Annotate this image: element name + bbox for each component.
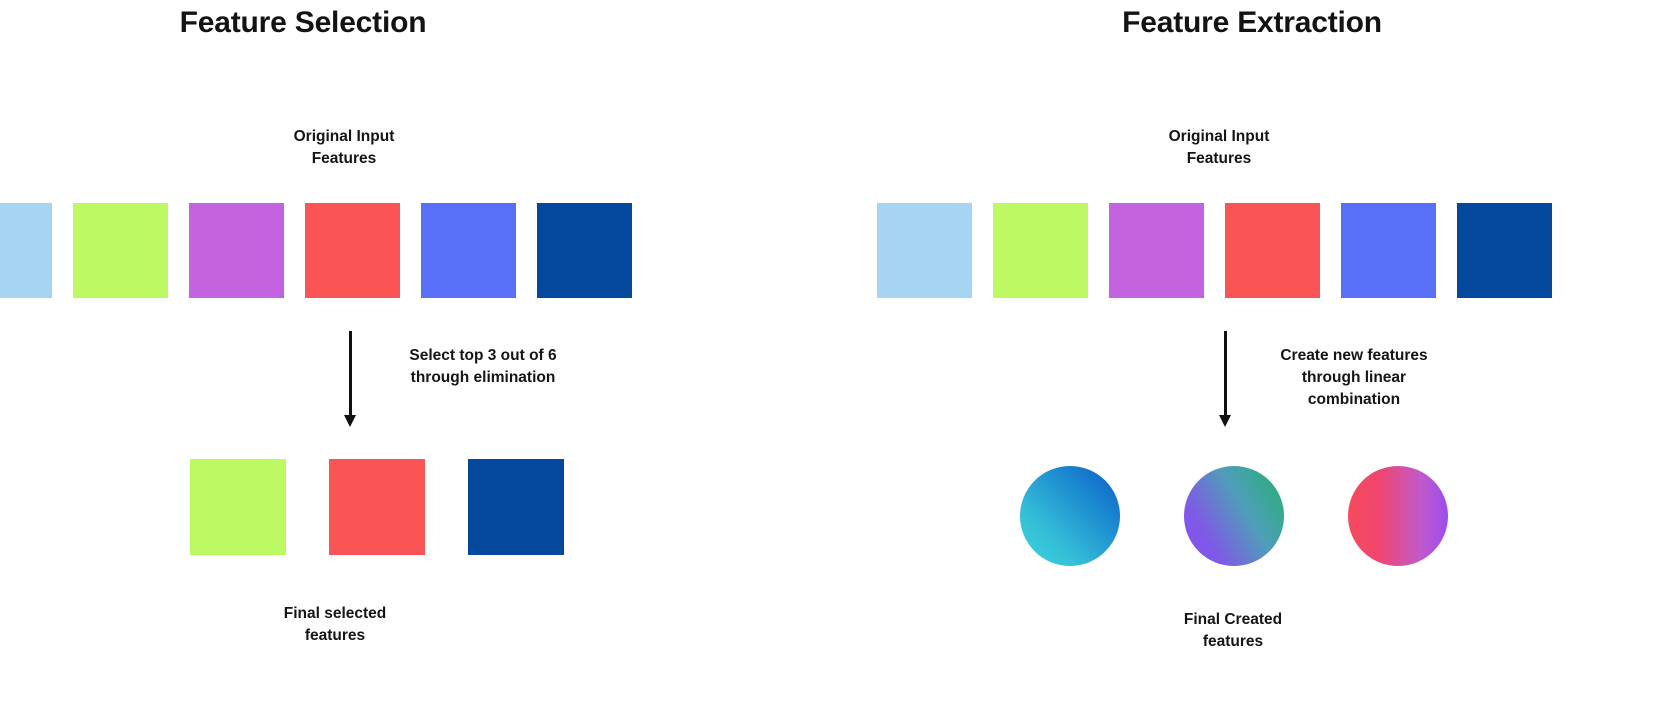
output-features-row-left [190,459,607,555]
feature-5 [1341,203,1436,298]
feature-4 [1225,203,1320,298]
input-features-row-left [0,203,653,298]
input-features-caption-right: Original Input Features [1119,126,1319,170]
feature-3 [189,203,284,298]
output-features-caption-left: Final selected features [235,603,435,647]
selected-feature-1 [190,459,286,555]
panel-feature-extraction: Feature Extraction Original Input Featur… [839,0,1677,706]
feature-1 [877,203,972,298]
feature-5 [421,203,516,298]
transform-note-right: Create new features through linear combi… [1254,345,1454,411]
panel-title-feature-extraction: Feature Extraction [833,6,1671,40]
feature-1 [0,203,52,298]
feature-2 [993,203,1088,298]
input-features-row-right [877,203,1573,298]
feature-6 [1457,203,1552,298]
panel-feature-selection: Feature Selection Original Input Feature… [0,0,838,706]
feature-2 [73,203,168,298]
created-feature-2 [1184,466,1284,566]
feature-3 [1109,203,1204,298]
output-features-row-right [1020,466,1512,566]
down-arrow-icon [349,331,352,417]
input-features-caption-left: Original Input Features [244,126,444,170]
selected-feature-3 [468,459,564,555]
output-features-caption-right: Final Created features [1133,609,1333,653]
down-arrow-icon [1224,331,1227,417]
panel-title-feature-selection: Feature Selection [0,6,722,40]
down-arrow-head-icon [1219,415,1231,427]
selected-feature-2 [329,459,425,555]
created-feature-1 [1020,466,1120,566]
diagram-canvas: Feature Selection Original Input Feature… [0,0,1677,706]
down-arrow-head-icon [344,415,356,427]
feature-4 [305,203,400,298]
transform-note-left: Select top 3 out of 6 through eliminatio… [383,345,583,389]
created-feature-3 [1348,466,1448,566]
feature-6 [537,203,632,298]
